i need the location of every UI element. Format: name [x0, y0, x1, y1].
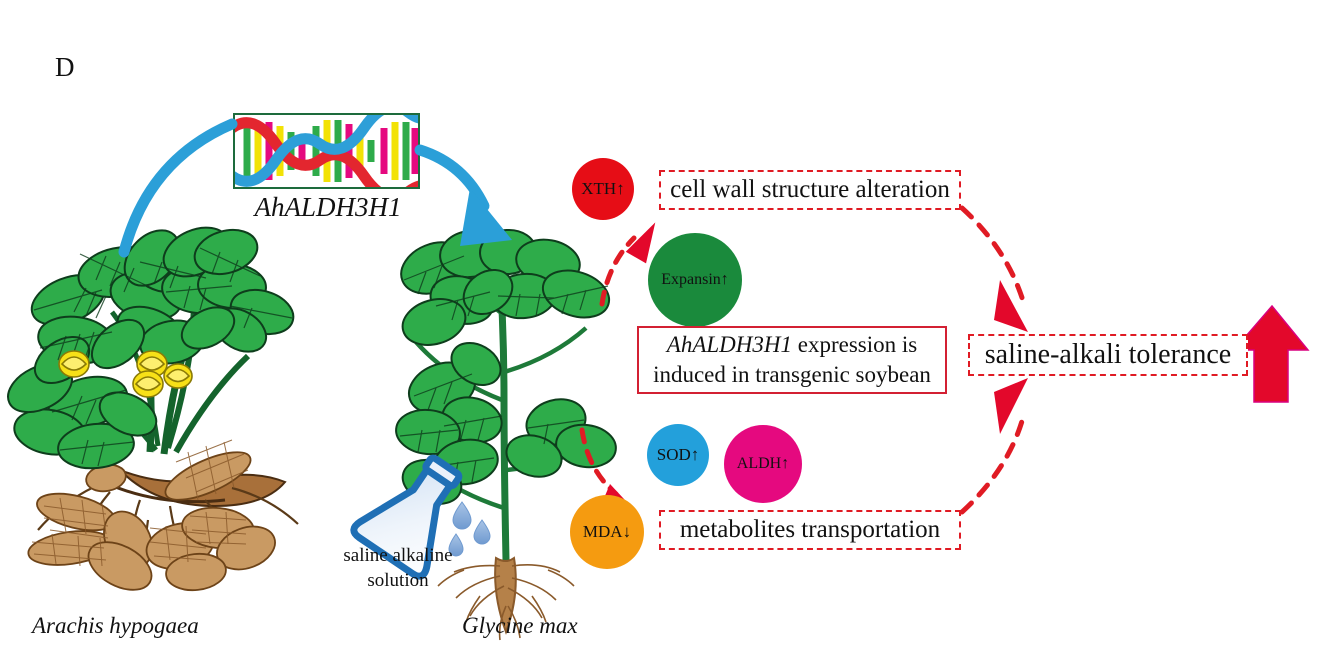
arrow-to-cell-wall [602, 218, 655, 304]
outcome-metabolites-label: metabolites transportation [680, 516, 940, 544]
gene-transfer-arrow [124, 124, 512, 252]
species-label-target: Glycine max [462, 613, 578, 639]
saline-solution-caption-line-2: solution [312, 568, 484, 593]
node-mda-label: MDA↓ [583, 522, 631, 542]
node-aldh-label: ALDH↑ [737, 455, 789, 473]
node-xth[interactable]: XTH↑ [572, 158, 634, 220]
node-expansin[interactable]: Expansin↑ [648, 233, 742, 327]
node-sod[interactable]: SOD↑ [647, 424, 709, 486]
statement-line-2: induced in transgenic soybean [653, 360, 931, 390]
statement-line-1-rest: expression is [792, 332, 917, 357]
node-xth-label: XTH↑ [581, 179, 624, 199]
central-statement-box: AhALDH3H1 expression is induced in trans… [637, 326, 947, 394]
statement-line-1: AhALDH3H1 expression is [667, 330, 917, 360]
node-mda[interactable]: MDA↓ [570, 495, 644, 569]
outcome-metabolites-box: metabolites transportation [659, 510, 961, 550]
species-label-source: Arachis hypogaea [32, 613, 199, 639]
arrow-metabolites-to-tolerance [962, 378, 1028, 512]
outcome-cell-wall-label: cell wall structure alteration [670, 176, 950, 204]
node-aldh[interactable]: ALDH↑ [724, 425, 802, 503]
outcome-tolerance-box: saline-alkali tolerance [968, 334, 1248, 376]
node-expansin-label: Expansin↑ [661, 271, 729, 289]
panel-letter: D [55, 52, 75, 83]
saline-solution-caption: saline alkaline solution [312, 543, 484, 593]
node-sod-label: SOD↑ [657, 445, 700, 465]
saline-solution-caption-line-1: saline alkaline [312, 543, 484, 568]
statement-gene-name: AhALDH3H1 [667, 332, 792, 357]
outcome-cell-wall-box: cell wall structure alteration [659, 170, 961, 210]
gene-label: AhALDH3H1 [233, 192, 423, 223]
outcome-tolerance-label: saline-alkali tolerance [985, 339, 1231, 371]
arrow-cellwall-to-tolerance [962, 208, 1028, 332]
